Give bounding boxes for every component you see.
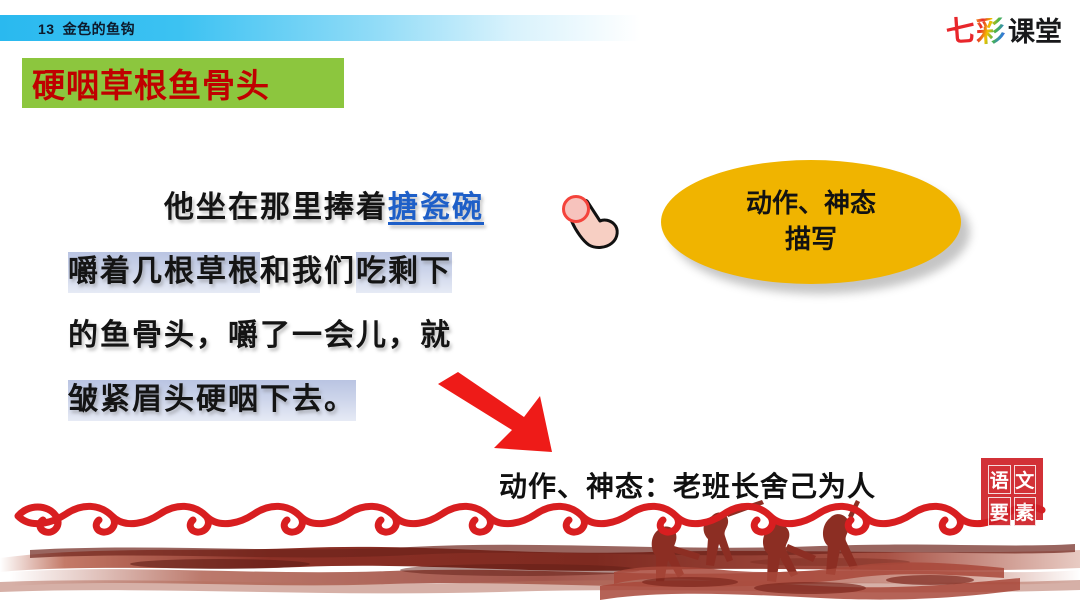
tangciwan-link[interactable]: 搪瓷碗 — [388, 190, 484, 225]
pointing-hand-cursor — [556, 189, 628, 251]
conclusion-text: 动作、神态：老班长舍己为人 — [499, 465, 876, 505]
page-title: 硬咽草根鱼骨头 — [32, 59, 270, 107]
passage-line-1: 他坐在那里捧着搪瓷碗 — [68, 176, 588, 240]
passage-line-2: 嚼着几根草根和我们吃剩下 — [68, 240, 588, 304]
click-ripple-icon — [562, 195, 590, 223]
highlight-leftovers: 吃剩下 — [356, 252, 452, 293]
seal-cell-0: 语 — [988, 465, 1011, 494]
callout-line-1: 动作、神态 — [746, 186, 876, 222]
callout-ellipse: 动作、神态 描写 — [661, 160, 961, 284]
seal-cell-3: 素 — [1014, 497, 1037, 526]
seal-cell-1: 文 — [1014, 465, 1037, 494]
passage-line-1-plain: 他坐在那里捧着 — [164, 190, 388, 225]
page-title-banner: 硬咽草根鱼骨头 — [22, 58, 344, 108]
highlight-chewing-roots: 嚼着几根草根 — [68, 252, 260, 293]
seal-stamp: 语 文 要 素 — [981, 458, 1043, 520]
logo-char-2: 彩 — [975, 17, 1005, 47]
passage-line-2-plain: 和我们 — [260, 254, 356, 289]
seal-cell-2: 要 — [988, 497, 1011, 526]
passage-line-3: 的鱼骨头，嚼了一会儿，就 — [68, 304, 588, 368]
breadcrumb: 13金色的鱼钩 — [38, 19, 135, 39]
lesson-number: 13 — [38, 21, 55, 37]
brand-logo: 七彩课堂 — [946, 18, 1062, 47]
callout-line-2: 描写 — [785, 222, 837, 258]
slide-canvas: 13金色的鱼钩 七彩课堂 硬咽草根鱼骨头 他坐在那里捧着搪瓷碗 嚼着几根草根和我… — [0, 0, 1080, 608]
logo-char-1: 七 — [945, 17, 976, 48]
red-arrow-down-right-icon — [432, 372, 560, 456]
logo-char-3: 课堂 — [1008, 19, 1062, 46]
lesson-title: 金色的鱼钩 — [63, 21, 136, 37]
highlight-frown-swallow: 皱紧眉头硬咽下去。 — [68, 380, 356, 421]
